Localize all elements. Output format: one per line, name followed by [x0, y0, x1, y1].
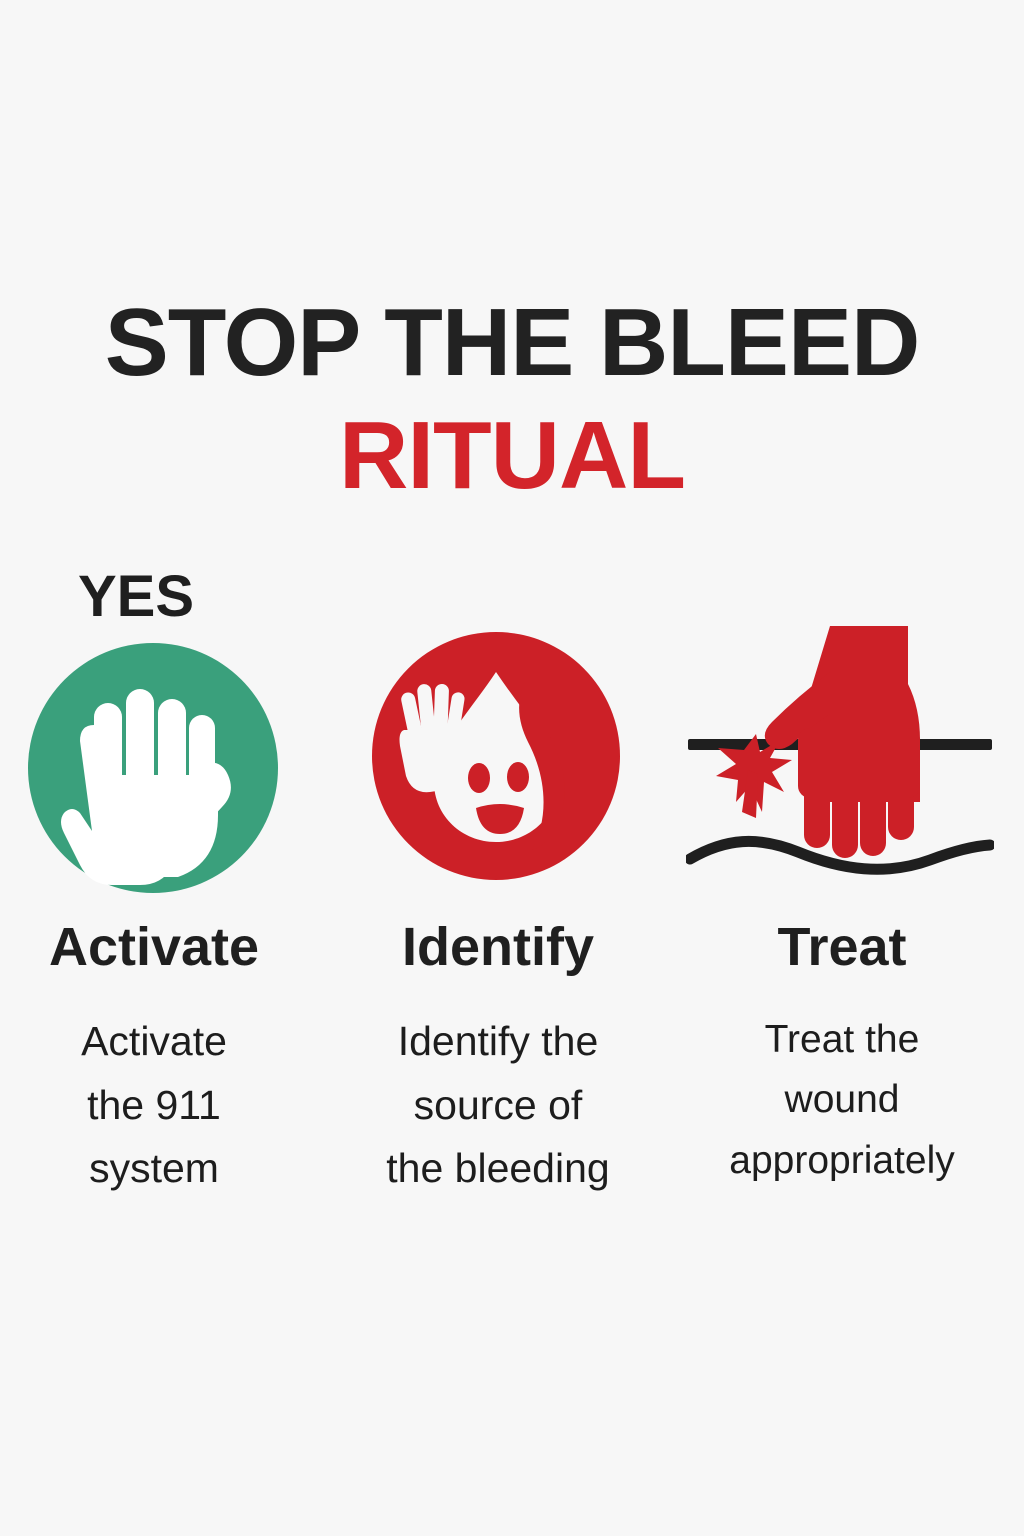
step-heading-activate: Activate [0, 920, 314, 974]
step-heading-treat: Treat [682, 920, 1002, 974]
waving-hand-shape [400, 683, 471, 796]
step-column-activate: Activate Activate the 911 system [0, 920, 314, 1201]
page-title-accent: RITUAL [0, 408, 1024, 504]
blood-drop-character-red-circle-icon [372, 630, 620, 882]
yes-badge-label: YES [78, 568, 194, 626]
right-eye-shape [507, 762, 529, 792]
step-body-line: source of [338, 1074, 658, 1138]
step-body-line: system [0, 1137, 314, 1201]
stop-hand-green-circle-icon [28, 643, 278, 893]
page-title-primary: STOP THE BLEED [0, 295, 1024, 391]
hand-pressing-wound-icon [686, 620, 994, 882]
stop-the-bleed-poster: STOP THE BLEED RITUAL YES [0, 0, 1024, 1536]
step-body-line: Treat the [682, 1010, 1002, 1070]
step-column-identify: Identify Identify the source of the blee… [338, 920, 658, 1201]
step-body-line: wound [682, 1070, 1002, 1130]
pressing-hand-shape [765, 626, 920, 858]
step-body-line: appropriately [682, 1131, 1002, 1191]
activate-icon-group [28, 643, 278, 893]
step-heading-identify: Identify [338, 920, 658, 974]
step-body-line: Identify the [338, 1010, 658, 1074]
step-body-identify: Identify the source of the bleeding [338, 974, 658, 1201]
step-body-line: the 911 [0, 1074, 314, 1138]
treat-icon-group [686, 620, 994, 882]
step-body-treat: Treat the wound appropriately [682, 974, 1002, 1191]
step-body-line: Activate [0, 1010, 314, 1074]
step-column-treat: Treat Treat the wound appropriately [682, 920, 1002, 1191]
left-eye-shape [468, 763, 490, 793]
step-body-activate: Activate the 911 system [0, 974, 314, 1201]
step-body-line: the bleeding [338, 1137, 658, 1201]
identify-icon-group [372, 630, 620, 882]
